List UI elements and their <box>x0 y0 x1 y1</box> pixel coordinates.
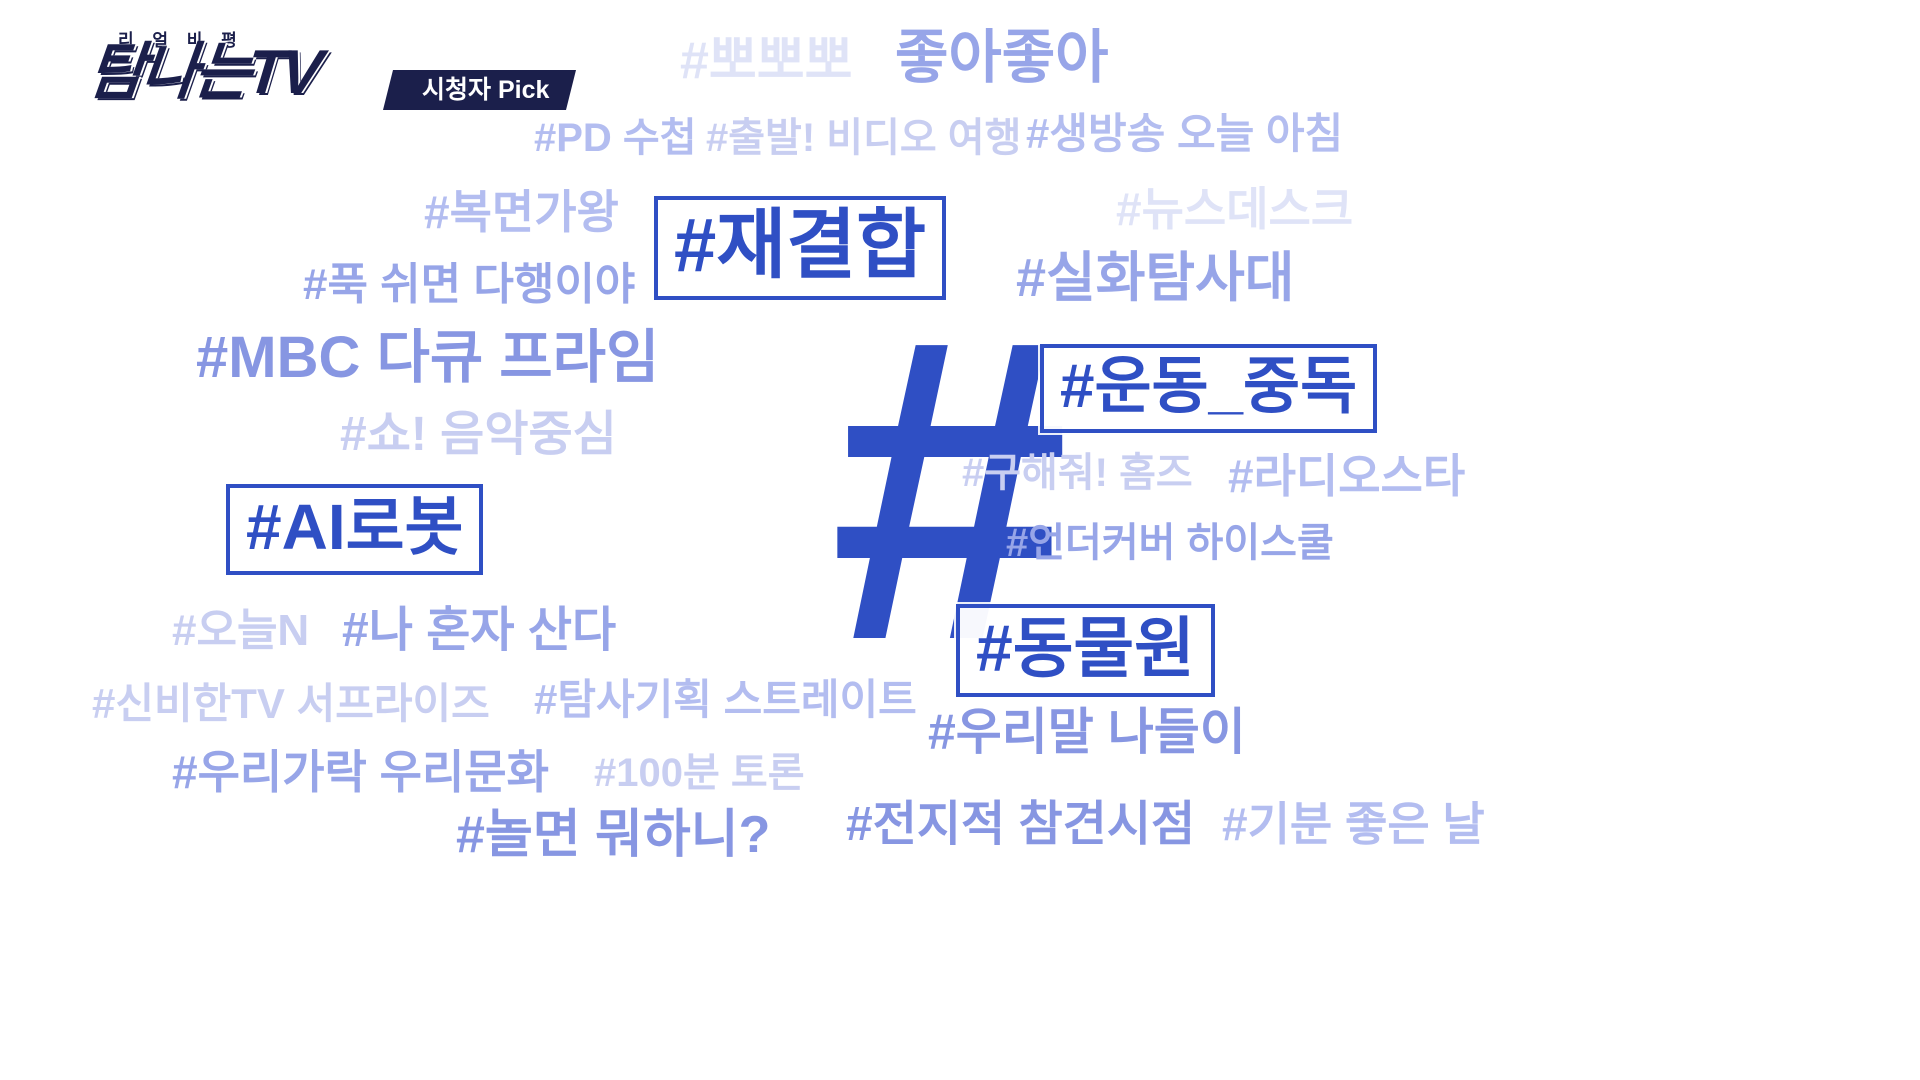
hashtag-chip[interactable]: #전지적 참견시점 <box>846 800 1195 850</box>
viewer-pick-badge-label: 시청자 Pick <box>422 70 549 110</box>
hashtag-chip[interactable]: #뉴스데스크 <box>1116 185 1353 233</box>
hashtag-chip-boxed[interactable]: #운동_중독 <box>1040 344 1377 433</box>
hashtag-chip[interactable]: #실화탐사대 <box>1016 250 1294 307</box>
hashtag-chip[interactable]: #MBC 다큐 프라임 <box>196 328 659 389</box>
hashtag-chip[interactable]: 좋아좋아 <box>895 28 1108 89</box>
hashtag-chip[interactable]: #언더커버 하이스쿨 <box>1006 522 1334 564</box>
logo-wordmark-text: 탐나는TV <box>85 42 322 104</box>
hashtag-chip[interactable]: #신비한TV 서프라이즈 <box>92 682 490 726</box>
program-logo: 리 얼 비 평 탐나는TV 시청자 Pick <box>88 26 598 112</box>
hashtag-chip[interactable]: #생방송 오늘 아침 <box>1026 112 1343 156</box>
hashtag-chip[interactable]: #놀면 뭐하니? <box>456 808 770 863</box>
hashtag-chip[interactable]: #우리말 나들이 <box>928 706 1246 759</box>
hashtag-chip[interactable]: #출발! 비디오 여행 <box>706 117 1021 159</box>
hashtag-chip-boxed[interactable]: #AI로봇 <box>226 484 483 575</box>
hashtag-chip[interactable]: #뽀뽀뽀 <box>680 34 852 89</box>
hashtag-chip[interactable]: #탐사기획 스트레이트 <box>534 678 917 722</box>
hashtag-chip[interactable]: #오늘N <box>172 608 309 654</box>
hashtag-chip-boxed[interactable]: #재결합 <box>654 196 946 300</box>
hashtag-chip[interactable]: #100분 토론 <box>594 752 805 794</box>
hashtag-chip[interactable]: #기분 좋은 날 <box>1222 800 1485 848</box>
hashtag-chip[interactable]: #나 혼자 산다 <box>342 606 616 656</box>
hashtag-chip-boxed[interactable]: #동물원 <box>956 604 1215 697</box>
hashtag-chip[interactable]: #복면가왕 <box>424 188 619 236</box>
hashtag-wordcloud-screen: 리 얼 비 평 탐나는TV 시청자 Pick # #뽀뽀뽀좋아좋아#PD 수첩#… <box>0 0 1920 1080</box>
hashtag-chip[interactable]: #라디오스타 <box>1228 452 1465 500</box>
hashtag-chip[interactable]: #구해줘! 홈즈 <box>962 452 1193 494</box>
hashtag-chip[interactable]: #우리가락 우리문화 <box>172 748 549 796</box>
hashtag-chip[interactable]: #푹 쉬면 다행이야 <box>303 262 635 308</box>
hashtag-chip[interactable]: #PD 수첩 <box>534 117 697 159</box>
hashtag-chip[interactable]: #쇼! 음악중심 <box>340 410 617 460</box>
viewer-pick-badge: 시청자 Pick <box>383 70 576 110</box>
